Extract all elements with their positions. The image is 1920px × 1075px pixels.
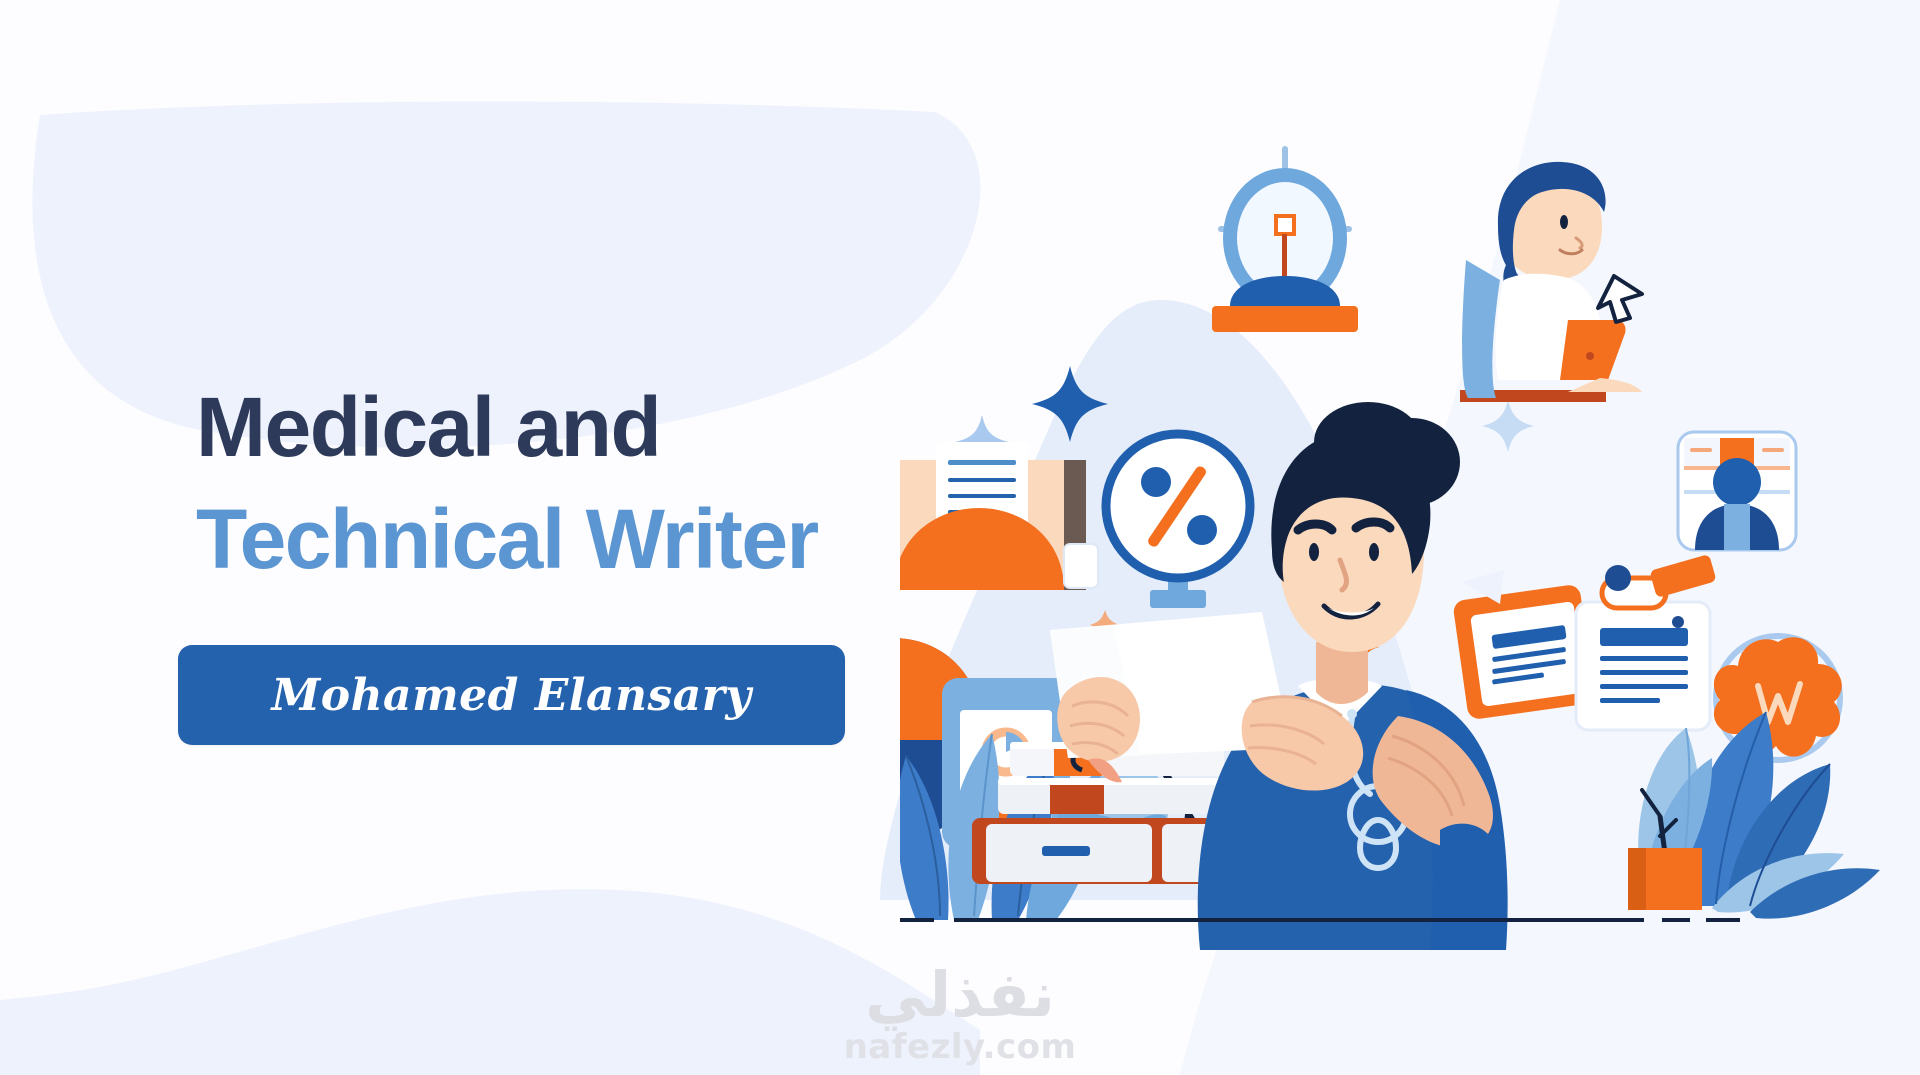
person-at-desk-icon xyxy=(1460,162,1642,402)
percent-badge-icon xyxy=(1106,434,1250,608)
magnifier-stand-icon xyxy=(1212,146,1358,332)
page-subtitle: Technical Writer xyxy=(196,497,818,581)
page-title: Medical and xyxy=(196,385,660,469)
hero-banner: Medical and Technical Writer Mohamed Ela… xyxy=(0,0,1920,1075)
notes-icon xyxy=(1576,554,1717,730)
sparkle-icon xyxy=(1032,366,1108,442)
floating-square xyxy=(1064,544,1098,588)
sparkle-icon xyxy=(1482,400,1534,452)
hero-text-column: Medical and Technical Writer Mohamed Ela… xyxy=(0,0,900,1075)
name-badge-label: Mohamed Elansary xyxy=(272,670,752,721)
floating-document-icon xyxy=(900,442,1086,590)
illustration xyxy=(900,130,1920,950)
clipboard-icon xyxy=(1452,570,1595,720)
potted-plant-right xyxy=(1628,712,1880,919)
id-card-icon xyxy=(1678,432,1796,550)
name-badge[interactable]: Mohamed Elansary xyxy=(178,645,845,745)
